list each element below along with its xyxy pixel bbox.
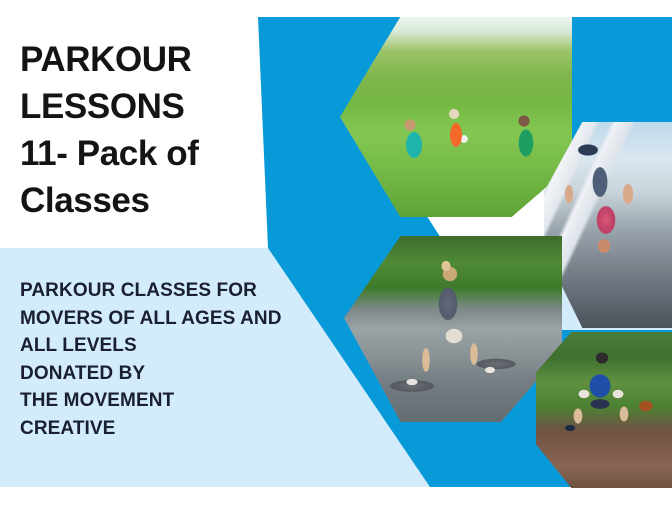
description-line-1: PARKOUR CLASSES FOR [20,277,320,305]
description-line-4: DONATED BY [20,360,320,388]
donor-name-line-1: THE MOVEMENT [20,387,320,415]
headline-line-2: LESSONS [20,83,280,130]
description-line-3: ALL LEVELS [20,332,320,360]
headline-line-4: Classes [20,177,280,224]
description-block: PARKOUR CLASSES FOR MOVERS OF ALL AGES A… [20,277,320,442]
headline-line-1: PARKOUR [20,36,280,83]
headline-line-3: 11- Pack of [20,130,280,177]
parkour-lessons-poster: PARKOUR LESSONS 11- Pack of Classes PARK… [0,0,672,510]
description-line-2: MOVERS OF ALL AGES AND [20,305,320,333]
page-title: PARKOUR LESSONS 11- Pack of Classes [20,36,280,224]
top-white-strip [0,0,672,17]
bottom-white-strip [0,488,672,510]
donor-name-line-2: CREATIVE [20,415,320,443]
photo-child-jumping-ledge [536,332,672,488]
